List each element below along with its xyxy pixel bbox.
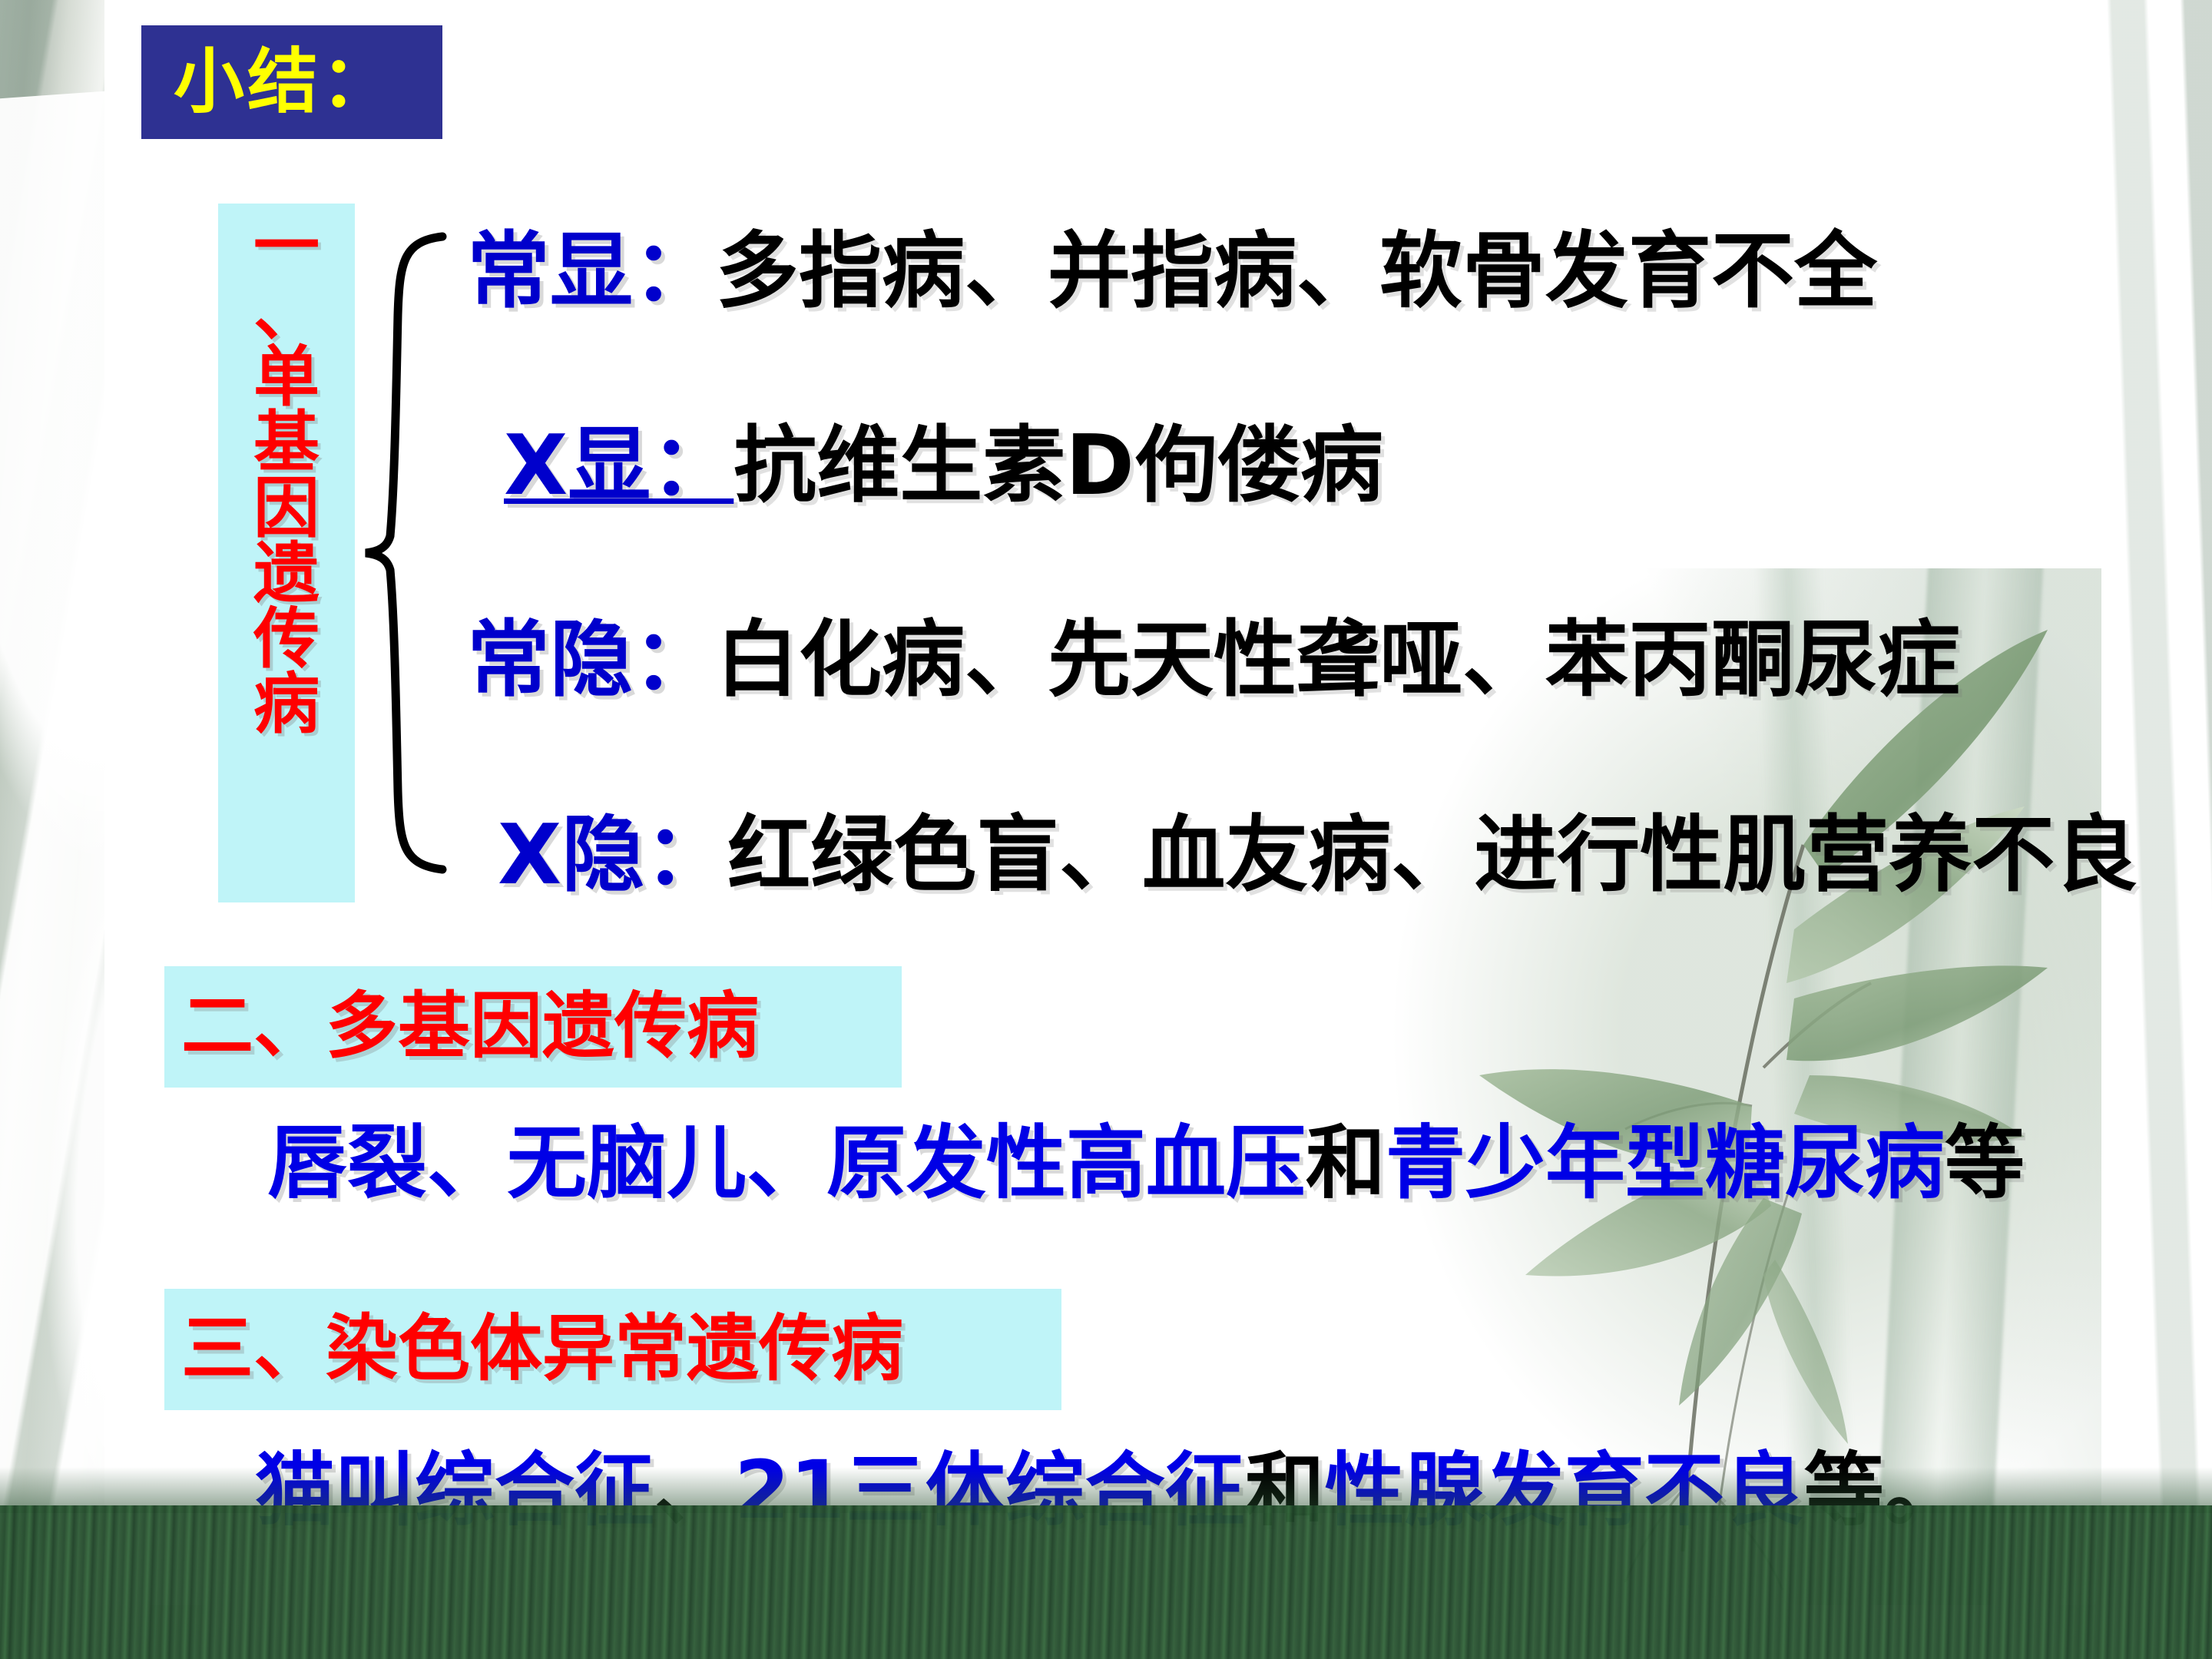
section1-row-dominant-autosomal: 常显：多指病、并指病、软骨发育不全	[467, 230, 1877, 313]
section2-body: 唇裂、无脑儿、原发性高血压和青少年型糖尿病等	[267, 1123, 2025, 1203]
row-body-x-yin: 红绿色盲、血友病、进行性肌营养不良	[727, 807, 2137, 903]
section1-vertical-label: 一 、 单 基 因 遗 传 病	[218, 204, 355, 902]
vlabel-char-7: 病	[253, 672, 320, 737]
section1-row-recessive-x: X隐：红绿色盲、血友病、进行性肌营养不良	[498, 814, 2137, 897]
content-card: 小结： 一 、 单 基 因 遗 传 病 常显：多指病、并指病、软骨发育不全 X显…	[104, 0, 2101, 1605]
section2-header: 二、多基因遗传病	[164, 966, 902, 1088]
section2-part-1: 和	[1306, 1116, 1386, 1210]
section3-header: 三、染色体异常遗传病	[164, 1289, 1061, 1410]
section2-part-3: 等	[1945, 1116, 2025, 1210]
vlabel-char-4: 因	[253, 476, 320, 541]
row-body-chang-xian: 多指病、并指病、软骨发育不全	[716, 224, 1877, 320]
vlabel-char-0: 一	[253, 214, 320, 280]
row-body-chang-yin: 白化病、先天性聋哑、苯丙酮尿症	[716, 612, 1960, 708]
vlabel-char-3: 基	[253, 410, 320, 475]
vlabel-char-2: 单	[253, 345, 320, 410]
curly-brace-icon	[359, 230, 452, 876]
vlabel-char-5: 遗	[253, 541, 320, 607]
page-title: 小结：	[174, 47, 395, 118]
vlabel-char-1: 、	[253, 280, 320, 345]
section1-row-recessive-autosomal: 常隐：白化病、先天性聋哑、苯丙酮尿症	[467, 619, 1960, 702]
row-tag-chang-yin: 常隐：	[467, 612, 716, 708]
section2-header-text: 二、多基因遗传病	[181, 991, 759, 1063]
section3-header-text: 三、染色体异常遗传病	[181, 1313, 903, 1386]
grass-band-texture-icon	[0, 1505, 2212, 1659]
vlabel-char-6: 传	[253, 607, 320, 672]
slide-title-box: 小结：	[141, 25, 442, 139]
row-body-x-xian: 抗维生素D佝偻病	[733, 418, 1383, 514]
section1-row-dominant-x: X显：抗维生素D佝偻病	[504, 425, 1383, 508]
slide-root: 小结： 一 、 单 基 因 遗 传 病 常显：多指病、并指病、软骨发育不全 X显…	[0, 0, 2212, 1659]
row-tag-x-xian: X显：	[504, 418, 733, 514]
row-tag-x-yin: X隐：	[498, 807, 727, 903]
section2-part-2: 青少年型糖尿病	[1386, 1116, 1945, 1210]
row-tag-chang-xian: 常显：	[467, 224, 716, 320]
section2-part-0: 唇裂、无脑儿、原发性高血压	[267, 1116, 1306, 1210]
